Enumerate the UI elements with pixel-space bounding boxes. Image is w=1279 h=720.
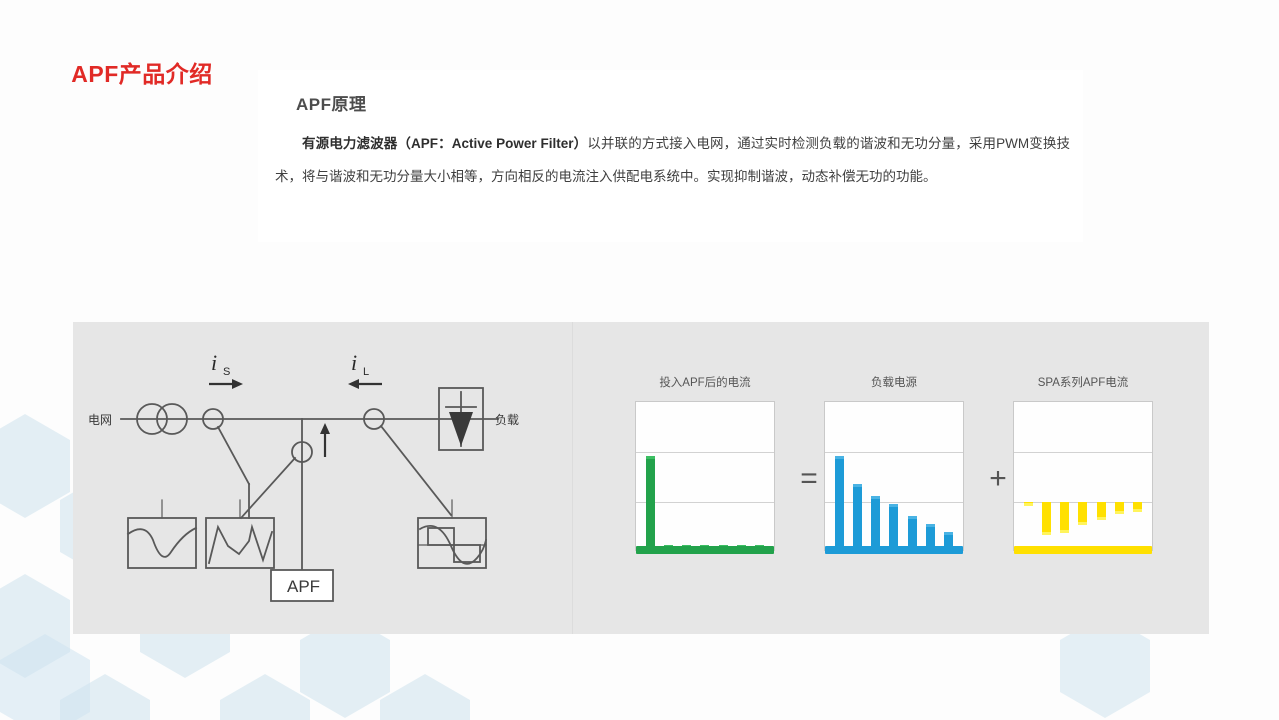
diagram-panel: 电网 负载 APF i S i L 投入APF后的电流 = xyxy=(73,322,1209,634)
chart-spa-apf-current-plot xyxy=(1019,502,1147,552)
chart-spa-apf-current-frame xyxy=(1013,401,1153,551)
chart-bar xyxy=(889,504,898,552)
waveform-distorted-curve xyxy=(209,527,272,563)
chart-bar-highlight xyxy=(889,504,898,507)
apf-principle-card: APF原理 有源电力滤波器（APF：Active Power Filter）以并… xyxy=(258,70,1083,242)
is-subscript: S xyxy=(223,366,230,378)
apf-inject-arrow-head-icon xyxy=(320,423,330,434)
is-symbol: i xyxy=(211,350,217,375)
card-body-lead: 有源电力滤波器（APF：Active Power Filter） xyxy=(302,136,587,151)
chart-bar-highlight xyxy=(835,456,844,459)
chart-bar-highlight xyxy=(926,524,935,527)
chart-load-source-plot xyxy=(830,402,958,552)
il-subscript: L xyxy=(363,366,369,378)
chart-baseline xyxy=(636,546,774,554)
equals-operator: = xyxy=(796,462,822,496)
chart-baseline xyxy=(825,546,963,554)
chart-bar-highlight xyxy=(944,532,953,535)
slide-root: APF产品介绍 APF原理 有源电力滤波器（APF：Active Power F… xyxy=(0,0,1279,720)
chart-bar xyxy=(871,496,880,552)
ct-load-lead xyxy=(381,426,451,515)
chart-bar-highlight xyxy=(1042,532,1051,535)
chart-bar xyxy=(1097,502,1106,520)
chart-bar xyxy=(1042,502,1051,535)
chart-bar xyxy=(1078,502,1087,525)
il-symbol: i xyxy=(351,350,357,375)
chart-baseline xyxy=(1014,546,1152,554)
chart-after-apf-frame xyxy=(635,401,775,551)
gridline xyxy=(1014,452,1152,453)
chart-bar-highlight xyxy=(1097,517,1106,520)
chart-spa-apf-current: SPA系列APF电流 xyxy=(1013,374,1153,551)
waveform-sine-curve xyxy=(128,528,196,557)
chart-bar xyxy=(1060,502,1069,533)
chart-bar-highlight xyxy=(1115,511,1124,514)
plus-operator: + xyxy=(985,462,1011,496)
chart-bar xyxy=(1133,502,1142,512)
is-arrow-head-icon xyxy=(232,379,243,389)
chart-bar-highlight xyxy=(1078,522,1087,525)
chart-bar-highlight xyxy=(871,496,880,499)
slide-title-badge: APF产品介绍 xyxy=(52,50,232,93)
waveform-box-distorted xyxy=(206,518,274,568)
chart-load-source-frame xyxy=(824,401,964,551)
chart-bar-highlight xyxy=(853,484,862,487)
diode-triangle-icon xyxy=(449,412,473,446)
load-label: 负载 xyxy=(495,413,519,427)
chart-bar xyxy=(1024,502,1033,506)
grid-label: 电网 xyxy=(88,413,112,427)
chart-after-apf: 投入APF后的电流 xyxy=(635,374,775,551)
chart-bar-highlight xyxy=(1060,530,1069,533)
chart-bar-highlight xyxy=(1133,509,1142,512)
apf-circuit-diagram: 电网 负载 APF i S i L xyxy=(73,322,572,634)
chart-load-source-title: 负载电源 xyxy=(824,374,964,392)
chart-bar-highlight xyxy=(646,456,655,459)
il-arrow-head-icon xyxy=(348,379,359,389)
chart-bar-highlight xyxy=(908,516,917,519)
chart-after-apf-title: 投入APF后的电流 xyxy=(635,374,775,392)
chart-spa-apf-current-title: SPA系列APF电流 xyxy=(1013,374,1153,392)
waveform-box-sine xyxy=(128,518,196,568)
chart-load-source: 负载电源 xyxy=(824,374,964,551)
harmonic-charts-group: 投入APF后的电流 = 负载电源 + xyxy=(573,322,1209,634)
chart-bar xyxy=(646,456,655,552)
chart-bar xyxy=(1115,502,1124,514)
page-title: APF产品介绍 xyxy=(71,55,213,89)
chart-bar xyxy=(835,456,844,552)
apf-box-label: APF xyxy=(287,577,320,596)
chart-bar-highlight xyxy=(1024,503,1033,506)
card-heading: APF原理 xyxy=(296,90,367,115)
ct-source-lead xyxy=(218,427,249,484)
chart-after-apf-plot xyxy=(641,402,769,552)
chart-bar xyxy=(853,484,862,552)
card-body-text: 有源电力滤波器（APF：Active Power Filter）以并联的方式接入… xyxy=(275,127,1070,193)
